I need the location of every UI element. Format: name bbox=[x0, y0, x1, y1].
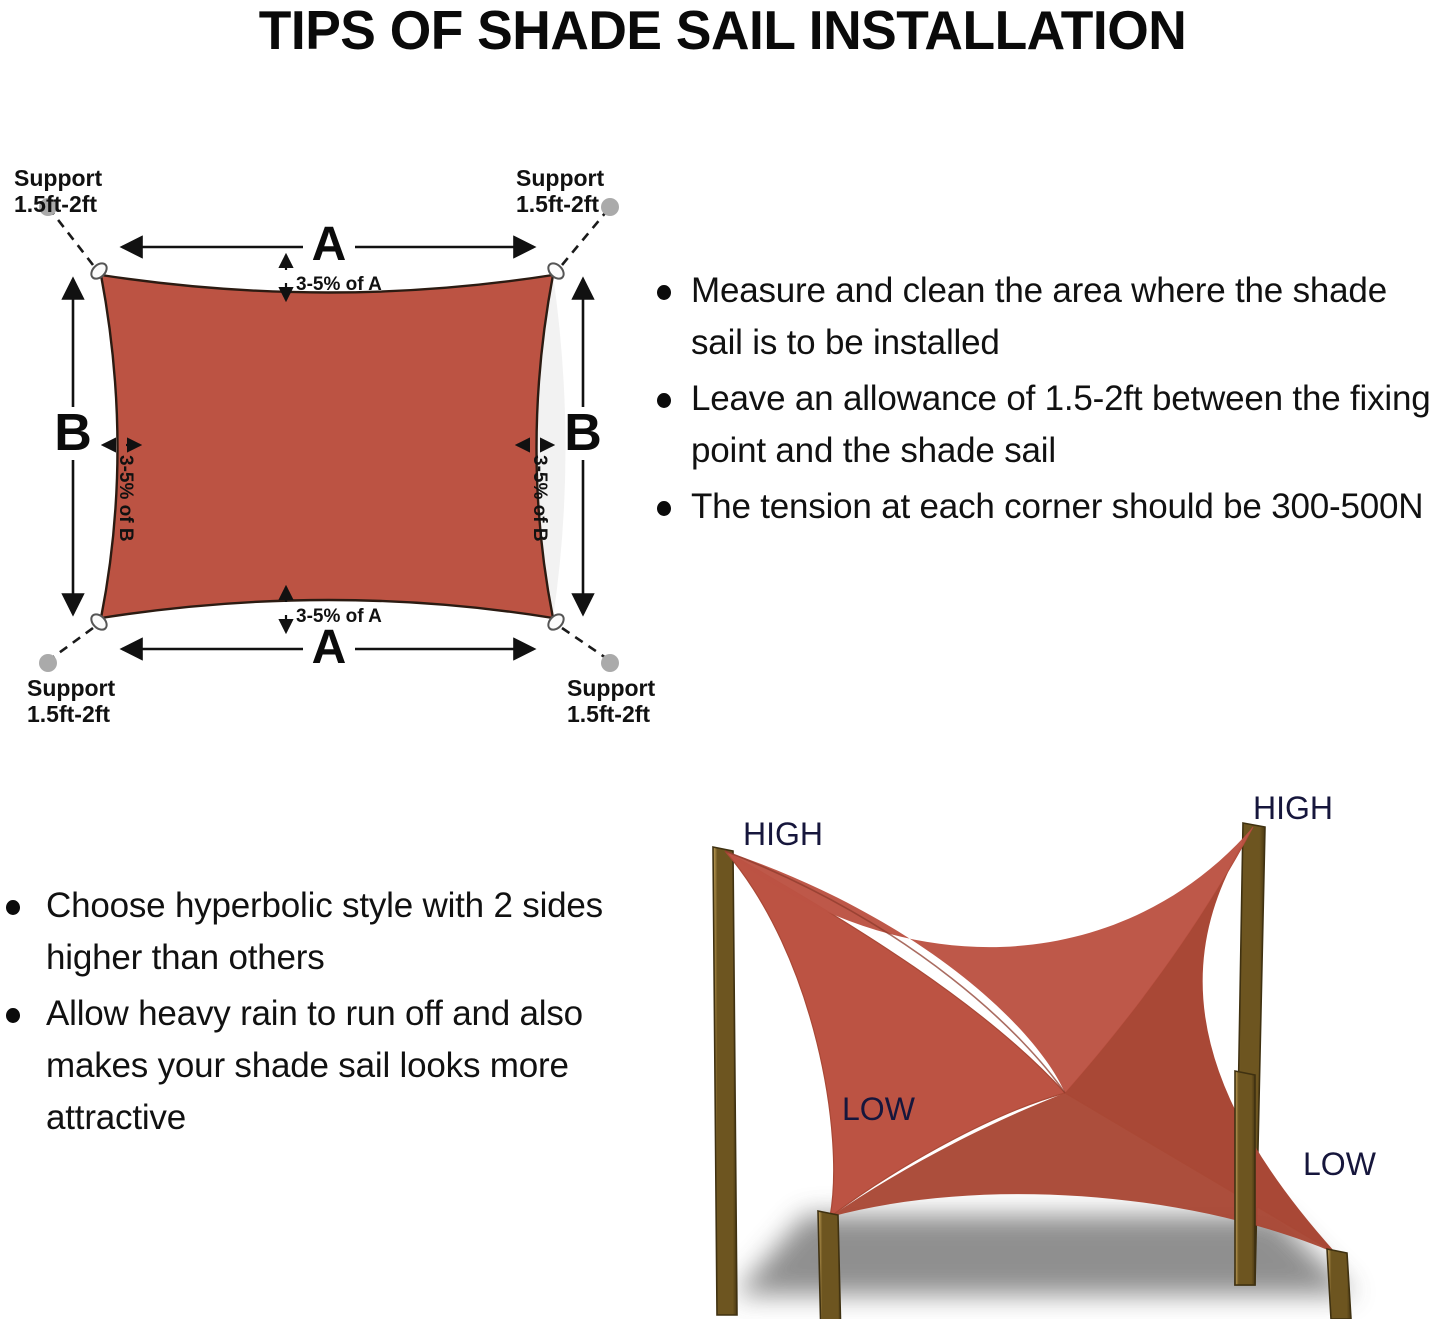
post-label-high-right: HIGH bbox=[1253, 790, 1333, 826]
post-low-right bbox=[1327, 1249, 1351, 1319]
hyperbolic-tips-list: Choose hyperbolic style with 2 sides hig… bbox=[0, 880, 620, 1144]
dimension-label-b-right: B bbox=[564, 404, 602, 462]
sail-shape bbox=[101, 275, 566, 618]
tether-top-right bbox=[562, 212, 606, 265]
list-item: The tension at each corner should be 300… bbox=[645, 481, 1445, 533]
list-item: Choose hyperbolic style with 2 sides hig… bbox=[0, 880, 620, 984]
tether-bottom-right bbox=[562, 628, 606, 658]
post-label-low-left: LOW bbox=[842, 1091, 916, 1127]
curve-label-top: 3-5% of A bbox=[296, 274, 382, 295]
curve-label-right: 3-5% of B bbox=[529, 455, 550, 542]
anchor-dot-bottom-left bbox=[39, 654, 57, 672]
support-label-top-right-line1: Support bbox=[516, 165, 604, 191]
dimension-label-a-top: A bbox=[312, 218, 347, 271]
tether-top-left bbox=[52, 212, 93, 265]
list-item: Leave an allowance of 1.5-2ft between th… bbox=[645, 373, 1445, 477]
hyperbolic-sail-illustration: HIGH HIGH LOW LOW bbox=[655, 775, 1445, 1319]
anchor-dot-top-right bbox=[601, 198, 619, 216]
post-label-high-left: HIGH bbox=[743, 816, 823, 852]
sail-fabric bbox=[101, 275, 553, 618]
support-label-bottom-right-line1: Support bbox=[567, 675, 655, 701]
tether-bottom-left bbox=[52, 628, 93, 658]
anchor-dot-bottom-right bbox=[601, 654, 619, 672]
dimension-label-b-left: B bbox=[54, 404, 92, 462]
support-label-top-right-line2: 1.5ft-2ft bbox=[516, 191, 599, 217]
list-item: Measure and clean the area where the sha… bbox=[645, 265, 1445, 369]
post-high-right-foreground bbox=[1235, 1071, 1255, 1285]
list-item: Allow heavy rain to run off and also mak… bbox=[0, 988, 620, 1144]
post-high-left bbox=[713, 847, 737, 1315]
support-label-bottom-right-line2: 1.5ft-2ft bbox=[567, 701, 650, 727]
support-label-top-left-line1: Support bbox=[14, 165, 102, 191]
hyperbolic-tips-panel: Choose hyperbolic style with 2 sides hig… bbox=[0, 880, 620, 1210]
support-label-bottom-left-line2: 1.5ft-2ft bbox=[27, 701, 110, 727]
dimension-label-a-bottom: A bbox=[312, 621, 347, 674]
installation-tips-panel: Measure and clean the area where the sha… bbox=[645, 265, 1445, 665]
page-title: TIPS OF SHADE SAIL INSTALLATION bbox=[22, 0, 1424, 62]
infographic-page: TIPS OF SHADE SAIL INSTALLATION bbox=[0, 0, 1445, 1319]
curve-label-left: 3-5% of B bbox=[115, 455, 136, 542]
post-label-low-right: LOW bbox=[1303, 1146, 1377, 1182]
curve-label-bottom: 3-5% of A bbox=[296, 606, 382, 627]
support-label-bottom-left-line1: Support bbox=[27, 675, 115, 701]
post-low-left bbox=[818, 1211, 842, 1319]
installation-tips-list: Measure and clean the area where the sha… bbox=[645, 265, 1445, 533]
rectangular-sail-diagram: Support 1.5ft-2ft Support 1.5ft-2ft Supp… bbox=[0, 150, 660, 750]
support-label-top-left-line2: 1.5ft-2ft bbox=[14, 191, 97, 217]
